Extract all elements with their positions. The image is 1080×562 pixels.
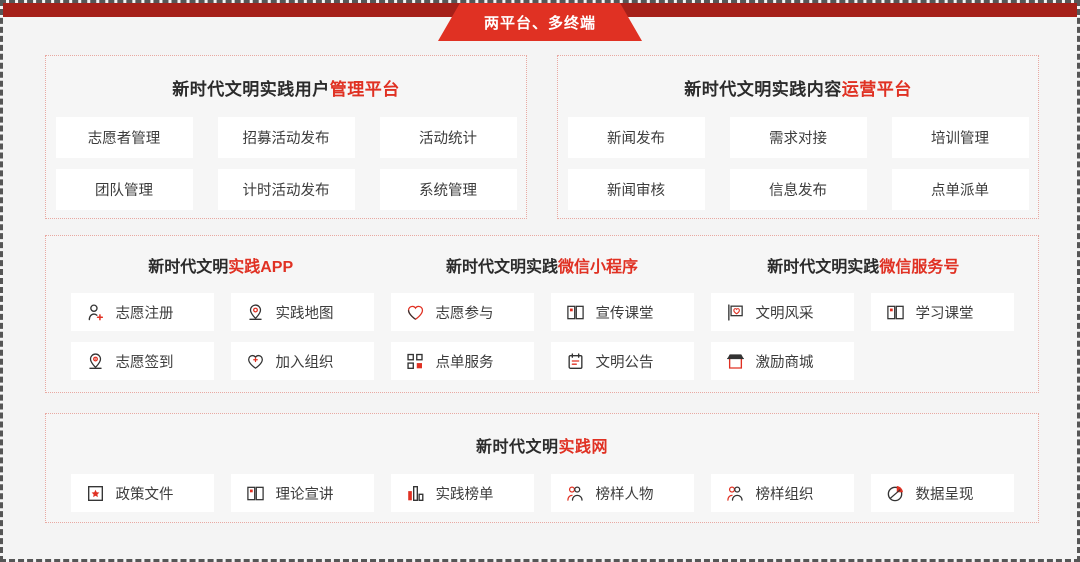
tile-info-publish[interactable]: 信息发布: [730, 169, 867, 210]
title-highlight: 实践网: [559, 439, 609, 456]
tile-team-management[interactable]: 团队管理: [56, 169, 193, 210]
tile-order-service[interactable]: 点单服务: [391, 342, 534, 380]
column-title-serviceaccount: 新时代文明实践微信服务号: [703, 253, 1024, 277]
panel-content-platform: 新时代文明实践内容运营平台 新闻发布 需求对接 培训管理 新闻审核 信息发布 点…: [557, 55, 1039, 219]
tile-demand-matching[interactable]: 需求对接: [730, 117, 867, 158]
heart-plus-icon: [246, 352, 265, 371]
tile-activity-stats[interactable]: 活动统计: [380, 117, 517, 158]
title-highlight: 管理平台: [330, 80, 400, 99]
title-plain: 新时代文明实践内容: [684, 80, 842, 99]
tile-role-model-organization[interactable]: 榜样组织: [711, 474, 854, 512]
panel-terminals: 新时代文明实践APP 新时代文明实践微信小程序 新时代文明实践微信服务号 志愿注…: [45, 235, 1039, 393]
tile-label: 志愿参与: [436, 302, 494, 323]
tile-label: 榜样组织: [756, 483, 814, 504]
tile-label: 文明公告: [596, 351, 654, 372]
heart-icon: [406, 303, 425, 322]
tile-training-management[interactable]: 培训管理: [892, 117, 1029, 158]
terminals-row-2: 志愿签到 加入组织 点单服务 文明公告: [46, 342, 1038, 380]
tile-practice-ranking[interactable]: 实践榜单: [391, 474, 534, 512]
panel-content-platform-title: 新时代文明实践内容运营平台: [558, 75, 1038, 100]
tile-label: 实践地图: [276, 302, 334, 323]
panel-website-title: 新时代文明实践网: [46, 433, 1038, 457]
content-platform-row-2: 新闻审核 信息发布 点单派单: [558, 169, 1038, 210]
title-plain: 新时代文明: [476, 439, 559, 456]
user-platform-row-1: 志愿者管理 招募活动发布 活动统计: [46, 117, 526, 158]
bar-chart-icon: [406, 352, 425, 371]
title-highlight: 微信服务号: [879, 259, 959, 276]
user-add-icon: [86, 303, 105, 322]
tile-label: 点单服务: [436, 351, 494, 372]
tile-study-classroom[interactable]: 学习课堂: [871, 293, 1014, 331]
tile-news-publish[interactable]: 新闻发布: [568, 117, 705, 158]
tile-volunteer-management[interactable]: 志愿者管理: [56, 117, 193, 158]
bar-chart-icon: [406, 484, 425, 503]
website-row: 政策文件 理论宣讲 实践榜单 榜样人物: [46, 474, 1038, 512]
poster-canvas: 两平台、多终端 新时代文明实践用户管理平台 志愿者管理 招募活动发布 活动统计 …: [0, 0, 1080, 562]
clipboard-icon: [566, 352, 585, 371]
column-title-app: 新时代文明实践APP: [60, 253, 381, 277]
tile-volunteer-checkin[interactable]: 志愿签到: [71, 342, 214, 380]
tile-label: 理论宣讲: [276, 483, 334, 504]
title-plain: 新时代文明: [148, 259, 228, 276]
panel-user-platform-title: 新时代文明实践用户管理平台: [46, 75, 526, 100]
tile-policy-documents[interactable]: 政策文件: [71, 474, 214, 512]
tile-reward-mall[interactable]: 激励商城: [711, 342, 854, 380]
tile-volunteer-participate[interactable]: 志愿参与: [391, 293, 534, 331]
tile-label: 加入组织: [276, 351, 334, 372]
tile-label: 学习课堂: [916, 302, 974, 323]
shop-icon: [726, 352, 745, 371]
open-book-icon: [246, 484, 265, 503]
open-book-icon: [566, 303, 585, 322]
tile-civilized-style[interactable]: 文明风采: [711, 293, 854, 331]
user-platform-row-2: 团队管理 计时活动发布 系统管理: [46, 169, 526, 210]
flag-heart-icon: [726, 303, 745, 322]
tile-label: 榜样人物: [596, 483, 654, 504]
map-pin-check-icon: [86, 352, 105, 371]
people-icon: [566, 484, 585, 503]
title-plain: 新时代文明实践: [446, 259, 558, 276]
tile-label: 文明风采: [756, 302, 814, 323]
people-icon: [726, 484, 745, 503]
content-platform-row-1: 新闻发布 需求对接 培训管理: [558, 117, 1038, 158]
tile-label: 志愿注册: [116, 302, 174, 323]
terminal-titles-row: 新时代文明实践APP 新时代文明实践微信小程序 新时代文明实践微信服务号: [46, 253, 1038, 277]
title-highlight: 运营平台: [842, 80, 912, 99]
tile-volunteer-register[interactable]: 志愿注册: [71, 293, 214, 331]
open-book-icon: [886, 303, 905, 322]
panel-user-platform: 新时代文明实践用户管理平台 志愿者管理 招募活动发布 活动统计 团队管理 计时活…: [45, 55, 527, 219]
tile-news-review[interactable]: 新闻审核: [568, 169, 705, 210]
title-plain: 新时代文明实践: [767, 259, 879, 276]
tile-label: 政策文件: [116, 483, 174, 504]
tile-system-management[interactable]: 系统管理: [380, 169, 517, 210]
tile-label: 数据呈现: [916, 483, 974, 504]
tile-promotion-classroom[interactable]: 宣传课堂: [551, 293, 694, 331]
document-star-icon: [86, 484, 105, 503]
tile-theory-lecture[interactable]: 理论宣讲: [231, 474, 374, 512]
tile-data-presentation[interactable]: 数据呈现: [871, 474, 1014, 512]
tile-empty-slot: [871, 342, 1014, 380]
tile-practice-map[interactable]: 实践地图: [231, 293, 374, 331]
pie-chart-icon: [886, 484, 905, 503]
column-title-miniprogram: 新时代文明实践微信小程序: [381, 253, 702, 277]
title-highlight: 实践APP: [228, 259, 293, 276]
map-pin-icon: [246, 303, 265, 322]
tile-role-model-people[interactable]: 榜样人物: [551, 474, 694, 512]
tile-timed-activity-publish[interactable]: 计时活动发布: [218, 169, 355, 210]
tile-label: 激励商城: [756, 351, 814, 372]
panel-website: 新时代文明实践网 政策文件 理论宣讲 实践榜单: [45, 413, 1039, 523]
title-plain: 新时代文明实践用户: [172, 80, 330, 99]
terminals-row-1: 志愿注册 实践地图 志愿参与 宣传课堂: [46, 293, 1038, 331]
top-red-bar: [3, 3, 1077, 17]
tile-label: 志愿签到: [116, 351, 174, 372]
tile-recruit-publish[interactable]: 招募活动发布: [218, 117, 355, 158]
tile-civilized-notice[interactable]: 文明公告: [551, 342, 694, 380]
title-highlight: 微信小程序: [558, 259, 638, 276]
tile-join-organization[interactable]: 加入组织: [231, 342, 374, 380]
tile-label: 宣传课堂: [596, 302, 654, 323]
tile-order-dispatch[interactable]: 点单派单: [892, 169, 1029, 210]
tile-label: 实践榜单: [436, 483, 494, 504]
